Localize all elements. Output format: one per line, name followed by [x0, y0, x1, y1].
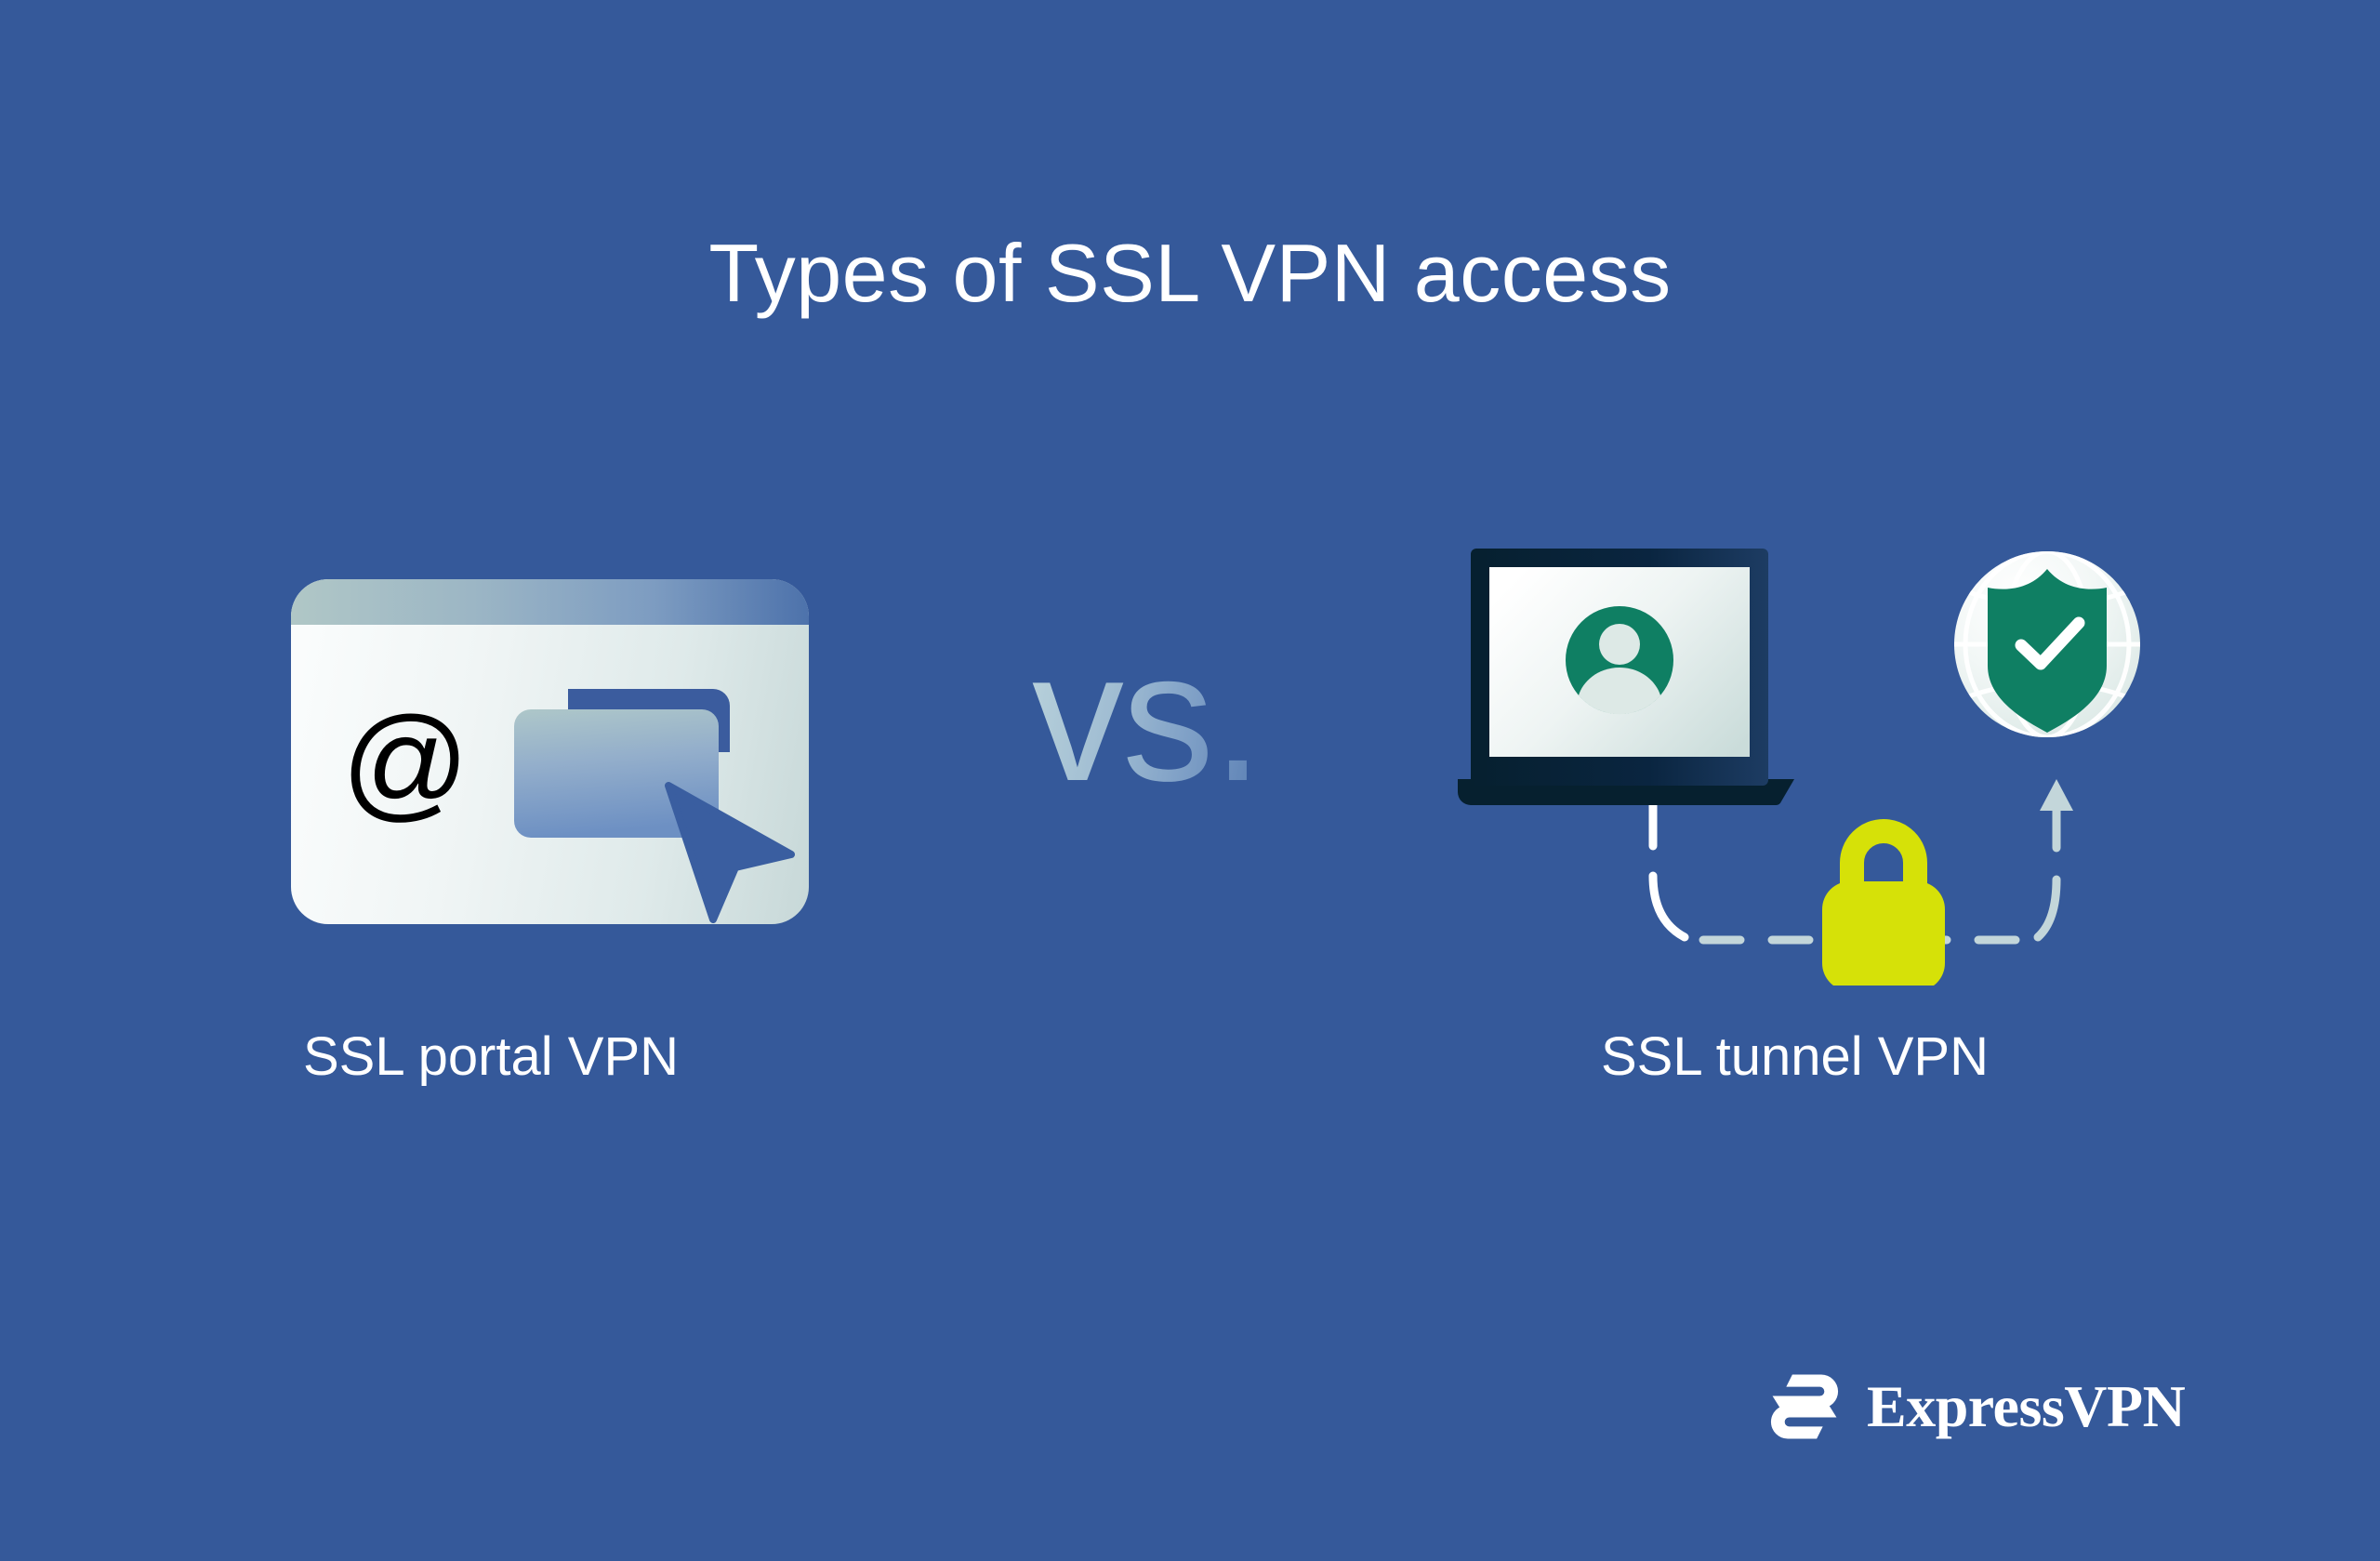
laptop-icon	[1458, 549, 1794, 805]
padlock-icon	[1822, 831, 1945, 986]
expressvpn-logo: ExpressVPN	[1766, 1369, 2185, 1445]
user-avatar-icon	[1566, 606, 1673, 714]
tunnel-illustration	[1450, 549, 2185, 986]
cursor-pointer-icon	[654, 782, 795, 923]
tunnel-path-left-curve	[1653, 876, 1685, 937]
arrow-up-icon	[2040, 779, 2073, 848]
at-symbol-icon: @	[341, 698, 469, 825]
page-title: Types of SSL VPN access	[0, 229, 2380, 319]
globe-icon	[1954, 551, 2140, 737]
expressvpn-e-mark-icon	[1766, 1369, 1843, 1445]
portal-card-header-bar	[291, 579, 809, 625]
expressvpn-wordmark: ExpressVPN	[1867, 1377, 2185, 1436]
right-label-ssl-tunnel-vpn: SSL tunnel VPN	[1601, 1030, 1989, 1084]
portal-card-illustration: @	[291, 579, 809, 924]
infographic-canvas: Types of SSL VPN access @ SSL portal VPN…	[0, 0, 2380, 1561]
versus-separator-label: vs.	[1032, 625, 1262, 809]
left-label-ssl-portal-vpn: SSL portal VPN	[303, 1030, 679, 1084]
tunnel-path-right-curve	[2038, 880, 2056, 937]
